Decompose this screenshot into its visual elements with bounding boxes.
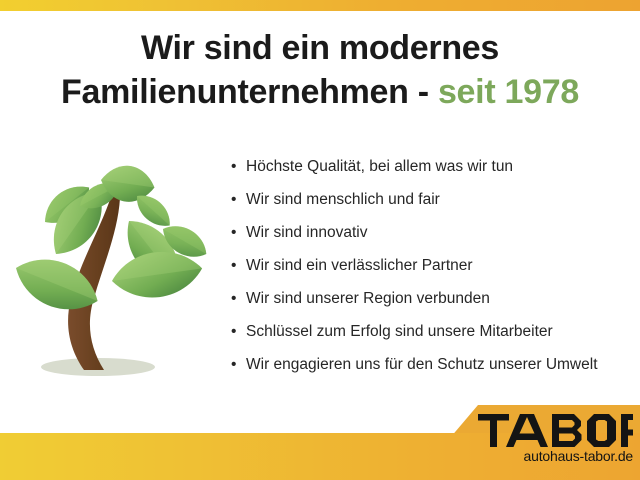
brand-logo[interactable]: autohaus-tabor.de: [478, 414, 638, 474]
bullet-icon: •: [231, 348, 236, 381]
logo-website-label: autohaus-tabor.de: [478, 448, 633, 464]
slide-canvas: Wir sind ein modernes Familienunternehme…: [0, 0, 640, 480]
list-item-label: Wir sind menschlich und fair: [246, 191, 440, 208]
headline-line-2: Familienunternehmen - seit 1978: [0, 70, 640, 114]
headline-line-1-text: Wir sind ein modernes: [141, 29, 499, 67]
bullet-icon: •: [231, 249, 236, 282]
bullet-icon: •: [231, 216, 236, 249]
tree-icon: [8, 158, 214, 383]
list-item: • Wir sind ein verlässlicher Partner: [229, 249, 639, 282]
headline-line-2-text: Familienunternehmen -: [61, 73, 438, 111]
list-item: • Schlüssel zum Erfolg sind unsere Mitar…: [229, 315, 639, 348]
tabor-wordmark: [478, 414, 633, 447]
headline-accent-text: seit 1978: [438, 73, 579, 111]
list-item: • Wir sind menschlich und fair: [229, 183, 639, 216]
bullet-icon: •: [231, 315, 236, 348]
list-item-label: Schlüssel zum Erfolg sind unsere Mitarbe…: [246, 323, 553, 340]
page-title: Wir sind ein modernes Familienunternehme…: [0, 26, 640, 114]
value-bullet-list: • Höchste Qualität, bei allem was wir tu…: [229, 150, 639, 381]
headline-line-1: Wir sind ein modernes: [0, 26, 640, 70]
bullet-icon: •: [231, 183, 236, 216]
list-item-label: Wir engagieren uns für den Schutz unsere…: [246, 356, 598, 373]
list-item-label: Wir sind ein verlässlicher Partner: [246, 257, 473, 274]
top-accent-bar: [0, 0, 640, 11]
list-item-label: Wir sind innovativ: [246, 224, 367, 241]
list-item: • Wir engagieren uns für den Schutz unse…: [229, 348, 639, 381]
list-item: • Wir sind unserer Region verbunden: [229, 282, 639, 315]
list-item: • Wir sind innovativ: [229, 216, 639, 249]
bullet-icon: •: [231, 150, 236, 183]
bullet-icon: •: [231, 282, 236, 315]
list-item-label: Wir sind unserer Region verbunden: [246, 290, 490, 307]
list-item-label: Höchste Qualität, bei allem was wir tun: [246, 158, 513, 175]
list-item: • Höchste Qualität, bei allem was wir tu…: [229, 150, 639, 183]
tree-illustration: [8, 158, 214, 383]
